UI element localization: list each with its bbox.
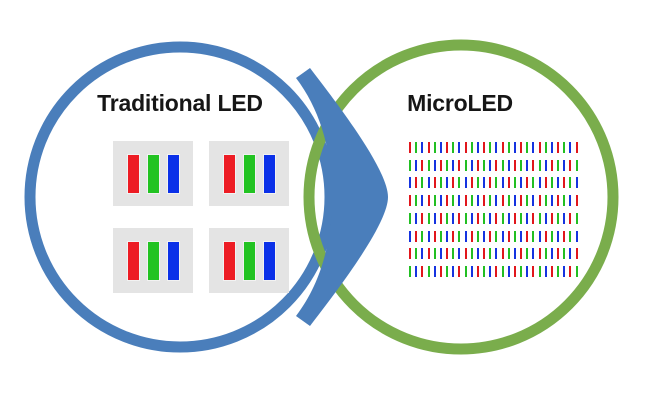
micro-subpixel-green — [494, 230, 498, 243]
micro-subpixel-red — [575, 247, 579, 260]
micro-subpixel-blue — [433, 212, 437, 225]
micro-subpixel-green — [414, 194, 418, 207]
micro-subpixel-red — [427, 247, 431, 260]
micro-subpixel-green — [464, 212, 468, 225]
micro-subpixel-red — [457, 159, 461, 172]
micro-subpixel-red — [568, 159, 572, 172]
micro-subpixel-green — [464, 159, 468, 172]
subpixel-blue — [167, 241, 180, 281]
micro-subpixel-red — [408, 247, 412, 260]
microled-pixel-row — [408, 141, 579, 154]
micro-subpixel-blue — [488, 265, 492, 278]
subpixel-green — [243, 241, 256, 281]
micro-subpixel-blue — [519, 176, 523, 189]
micro-subpixel-red — [414, 176, 418, 189]
micro-subpixel-red — [408, 194, 412, 207]
micro-subpixel-red — [408, 141, 412, 154]
micro-subpixel-red — [513, 265, 517, 278]
micro-subpixel-red — [439, 265, 443, 278]
subpixel-red — [127, 241, 140, 281]
micro-subpixel-blue — [427, 230, 431, 243]
micro-subpixel-red — [420, 212, 424, 225]
micro-subpixel-red — [519, 141, 523, 154]
micro-subpixel-green — [451, 141, 455, 154]
micro-subpixel-blue — [457, 247, 461, 260]
micro-subpixel-red — [507, 230, 511, 243]
micro-subpixel-green — [476, 176, 480, 189]
micro-subpixel-red — [488, 176, 492, 189]
micro-subpixel-green — [501, 265, 505, 278]
micro-subpixel-green — [488, 194, 492, 207]
micro-subpixel-blue — [464, 176, 468, 189]
micro-subpixel-red — [568, 212, 572, 225]
micro-subpixel-green — [445, 159, 449, 172]
micro-subpixel-blue — [414, 265, 418, 278]
micro-subpixel-green — [445, 265, 449, 278]
micro-subpixel-blue — [476, 194, 480, 207]
micro-subpixel-red — [482, 194, 486, 207]
microled-pixel-row — [408, 194, 579, 207]
micro-subpixel-blue — [501, 230, 505, 243]
micro-subpixel-green — [408, 265, 412, 278]
micro-subpixel-green — [507, 247, 511, 260]
subpixel-red — [223, 154, 236, 194]
micro-subpixel-blue — [451, 159, 455, 172]
micro-subpixel-red — [464, 141, 468, 154]
micro-subpixel-blue — [439, 194, 443, 207]
micro-subpixel-red — [457, 265, 461, 278]
micro-subpixel-green — [420, 230, 424, 243]
micro-subpixel-green — [457, 230, 461, 243]
micro-subpixel-red — [544, 176, 548, 189]
subpixel-blue — [167, 154, 180, 194]
micro-subpixel-green — [575, 159, 579, 172]
micro-subpixel-blue — [414, 159, 418, 172]
microled-title: MicroLED — [380, 90, 540, 117]
micro-subpixel-blue — [470, 212, 474, 225]
micro-subpixel-blue — [513, 247, 517, 260]
micro-subpixel-green — [464, 265, 468, 278]
micro-subpixel-red — [464, 247, 468, 260]
micro-subpixel-blue — [501, 176, 505, 189]
micro-subpixel-green — [525, 141, 529, 154]
micro-subpixel-red — [439, 159, 443, 172]
micro-subpixel-green — [531, 176, 535, 189]
micro-subpixel-blue — [507, 212, 511, 225]
micro-subpixel-blue — [482, 176, 486, 189]
traditional-led-pixel-block — [113, 228, 193, 293]
micro-subpixel-red — [531, 212, 535, 225]
micro-subpixel-green — [544, 194, 548, 207]
micro-subpixel-red — [556, 194, 560, 207]
micro-subpixel-red — [519, 194, 523, 207]
micro-subpixel-green — [414, 141, 418, 154]
micro-subpixel-red — [544, 230, 548, 243]
micro-subpixel-red — [550, 212, 554, 225]
micro-subpixel-red — [451, 176, 455, 189]
micro-subpixel-red — [476, 159, 480, 172]
micro-subpixel-green — [575, 265, 579, 278]
micro-subpixel-blue — [408, 230, 412, 243]
micro-subpixel-green — [525, 247, 529, 260]
micro-subpixel-red — [531, 265, 535, 278]
micro-subpixel-red — [427, 141, 431, 154]
micro-subpixel-red — [445, 194, 449, 207]
microled-pixel-row — [408, 265, 579, 278]
subpixel-red — [223, 241, 236, 281]
micro-subpixel-green — [482, 265, 486, 278]
micro-subpixel-green — [445, 212, 449, 225]
micro-subpixel-red — [494, 159, 498, 172]
micro-subpixel-red — [501, 141, 505, 154]
micro-subpixel-blue — [445, 176, 449, 189]
micro-subpixel-green — [433, 141, 437, 154]
micro-subpixel-blue — [476, 247, 480, 260]
micro-subpixel-blue — [568, 194, 572, 207]
micro-subpixel-green — [513, 230, 517, 243]
micro-subpixel-green — [420, 176, 424, 189]
micro-subpixel-blue — [519, 230, 523, 243]
micro-subpixel-blue — [439, 141, 443, 154]
micro-subpixel-blue — [507, 265, 511, 278]
micro-subpixel-red — [445, 141, 449, 154]
micro-subpixel-green — [488, 141, 492, 154]
micro-subpixel-blue — [531, 141, 535, 154]
micro-subpixel-blue — [538, 230, 542, 243]
micro-subpixel-green — [556, 265, 560, 278]
micro-subpixel-green — [501, 212, 505, 225]
micro-subpixel-red — [451, 230, 455, 243]
micro-subpixel-red — [575, 141, 579, 154]
micro-subpixel-red — [494, 212, 498, 225]
micro-subpixel-red — [445, 247, 449, 260]
micro-subpixel-red — [494, 265, 498, 278]
micro-subpixel-green — [482, 159, 486, 172]
micro-subpixel-red — [470, 176, 474, 189]
micro-subpixel-red — [513, 159, 517, 172]
micro-subpixel-red — [457, 212, 461, 225]
micro-subpixel-green — [544, 141, 548, 154]
micro-subpixel-green — [507, 141, 511, 154]
subpixel-red — [127, 154, 140, 194]
micro-subpixel-green — [575, 212, 579, 225]
micro-subpixel-blue — [427, 176, 431, 189]
subpixel-green — [243, 154, 256, 194]
micro-subpixel-green — [513, 176, 517, 189]
micro-subpixel-blue — [420, 141, 424, 154]
micro-subpixel-blue — [550, 247, 554, 260]
micro-subpixel-green — [470, 194, 474, 207]
micro-subpixel-red — [501, 247, 505, 260]
micro-subpixel-blue — [544, 212, 548, 225]
micro-subpixel-green — [550, 230, 554, 243]
traditional-led-pixel-grid — [113, 141, 289, 293]
micro-subpixel-red — [420, 265, 424, 278]
micro-subpixel-red — [538, 141, 542, 154]
micro-subpixel-blue — [414, 212, 418, 225]
micro-subpixel-green — [488, 247, 492, 260]
micro-subpixel-green — [538, 265, 542, 278]
micro-subpixel-blue — [525, 159, 529, 172]
micro-subpixel-green — [451, 247, 455, 260]
micro-subpixel-red — [482, 141, 486, 154]
micro-subpixel-red — [568, 265, 572, 278]
micro-subpixel-blue — [562, 265, 566, 278]
micro-subpixel-green — [519, 265, 523, 278]
micro-subpixel-blue — [451, 265, 455, 278]
subpixel-blue — [263, 154, 276, 194]
micro-subpixel-green — [433, 194, 437, 207]
subpixel-green — [147, 241, 160, 281]
micro-subpixel-green — [562, 247, 566, 260]
micro-subpixel-red — [439, 212, 443, 225]
micro-subpixel-blue — [556, 176, 560, 189]
micro-subpixel-green — [538, 159, 542, 172]
micro-subpixel-red — [507, 176, 511, 189]
micro-subpixel-red — [525, 176, 529, 189]
micro-subpixel-blue — [433, 265, 437, 278]
micro-subpixel-green — [501, 159, 505, 172]
micro-subpixel-blue — [531, 247, 535, 260]
micro-subpixel-red — [550, 265, 554, 278]
micro-subpixel-red — [562, 230, 566, 243]
micro-subpixel-green — [562, 194, 566, 207]
micro-subpixel-blue — [531, 194, 535, 207]
micro-subpixel-red — [476, 265, 480, 278]
micro-subpixel-blue — [575, 176, 579, 189]
micro-subpixel-green — [427, 265, 431, 278]
micro-subpixel-green — [519, 212, 523, 225]
micro-subpixel-blue — [488, 159, 492, 172]
micro-subpixel-blue — [544, 159, 548, 172]
micro-subpixel-green — [427, 159, 431, 172]
micro-subpixel-green — [525, 194, 529, 207]
micro-subpixel-red — [476, 212, 480, 225]
micro-subpixel-green — [519, 159, 523, 172]
micro-subpixel-red — [488, 230, 492, 243]
micro-subpixel-green — [439, 176, 443, 189]
micro-subpixel-green — [408, 212, 412, 225]
micro-subpixel-blue — [464, 230, 468, 243]
micro-subpixel-red — [414, 230, 418, 243]
micro-subpixel-blue — [544, 265, 548, 278]
micro-subpixel-red — [575, 194, 579, 207]
micro-subpixel-blue — [525, 212, 529, 225]
micro-subpixel-red — [513, 212, 517, 225]
micro-subpixel-red — [427, 194, 431, 207]
micro-subpixel-green — [568, 176, 572, 189]
micro-subpixel-blue — [420, 194, 424, 207]
micro-subpixel-red — [531, 159, 535, 172]
microled-pixel-grid — [408, 141, 579, 278]
micro-subpixel-blue — [494, 141, 498, 154]
micro-subpixel-green — [451, 194, 455, 207]
traditional-led-pixel-block — [209, 141, 289, 206]
micro-subpixel-blue — [513, 194, 517, 207]
micro-subpixel-blue — [420, 247, 424, 260]
micro-subpixel-green — [494, 176, 498, 189]
microled-pixel-row — [408, 176, 579, 189]
micro-subpixel-red — [519, 247, 523, 260]
micro-subpixel-blue — [568, 247, 572, 260]
micro-subpixel-green — [556, 159, 560, 172]
micro-subpixel-red — [420, 159, 424, 172]
micro-subpixel-blue — [457, 141, 461, 154]
micro-subpixel-blue — [538, 176, 542, 189]
micro-subpixel-green — [408, 159, 412, 172]
micro-subpixel-green — [457, 176, 461, 189]
micro-subpixel-red — [525, 230, 529, 243]
micro-subpixel-blue — [488, 212, 492, 225]
micro-subpixel-green — [427, 212, 431, 225]
micro-subpixel-green — [556, 212, 560, 225]
micro-subpixel-blue — [445, 230, 449, 243]
micro-subpixel-blue — [550, 194, 554, 207]
traditional-led-title: Traditional LED — [60, 90, 300, 117]
micro-subpixel-blue — [433, 159, 437, 172]
micro-subpixel-blue — [568, 141, 572, 154]
micro-subpixel-green — [544, 247, 548, 260]
micro-subpixel-red — [482, 247, 486, 260]
subpixel-blue — [263, 241, 276, 281]
micro-subpixel-green — [531, 230, 535, 243]
micro-subpixel-blue — [562, 212, 566, 225]
micro-subpixel-red — [501, 194, 505, 207]
micro-subpixel-green — [476, 230, 480, 243]
micro-subpixel-blue — [550, 141, 554, 154]
micro-subpixel-blue — [457, 194, 461, 207]
subpixel-green — [147, 154, 160, 194]
microled-pixel-row — [408, 159, 579, 172]
micro-subpixel-blue — [507, 159, 511, 172]
micro-subpixel-green — [470, 247, 474, 260]
micro-subpixel-blue — [525, 265, 529, 278]
micro-subpixel-blue — [476, 141, 480, 154]
microled-pixel-row — [408, 212, 579, 225]
micro-subpixel-red — [433, 230, 437, 243]
microled-pixel-row — [408, 247, 579, 260]
micro-subpixel-blue — [494, 247, 498, 260]
micro-subpixel-blue — [482, 230, 486, 243]
traditional-led-pixel-block — [113, 141, 193, 206]
diagram-canvas: Traditional LED MicroLED — [0, 0, 650, 400]
micro-subpixel-red — [433, 176, 437, 189]
micro-subpixel-red — [470, 230, 474, 243]
micro-subpixel-blue — [562, 159, 566, 172]
micro-subpixel-red — [556, 141, 560, 154]
micro-subpixel-blue — [408, 176, 412, 189]
micro-subpixel-green — [507, 194, 511, 207]
microled-pixel-row — [408, 230, 579, 243]
micro-subpixel-blue — [575, 230, 579, 243]
traditional-led-pixel-block — [209, 228, 289, 293]
micro-subpixel-green — [439, 230, 443, 243]
micro-subpixel-blue — [494, 194, 498, 207]
micro-subpixel-green — [433, 247, 437, 260]
micro-subpixel-green — [482, 212, 486, 225]
micro-subpixel-blue — [513, 141, 517, 154]
micro-subpixel-blue — [470, 265, 474, 278]
micro-subpixel-blue — [556, 230, 560, 243]
micro-subpixel-green — [538, 212, 542, 225]
micro-subpixel-red — [556, 247, 560, 260]
micro-subpixel-green — [550, 176, 554, 189]
micro-subpixel-blue — [439, 247, 443, 260]
micro-subpixel-red — [562, 176, 566, 189]
micro-subpixel-red — [464, 194, 468, 207]
micro-subpixel-green — [562, 141, 566, 154]
micro-subpixel-blue — [470, 159, 474, 172]
micro-subpixel-green — [470, 141, 474, 154]
micro-subpixel-red — [538, 194, 542, 207]
micro-subpixel-red — [538, 247, 542, 260]
micro-subpixel-green — [568, 230, 572, 243]
micro-subpixel-red — [550, 159, 554, 172]
micro-subpixel-blue — [451, 212, 455, 225]
micro-subpixel-green — [414, 247, 418, 260]
